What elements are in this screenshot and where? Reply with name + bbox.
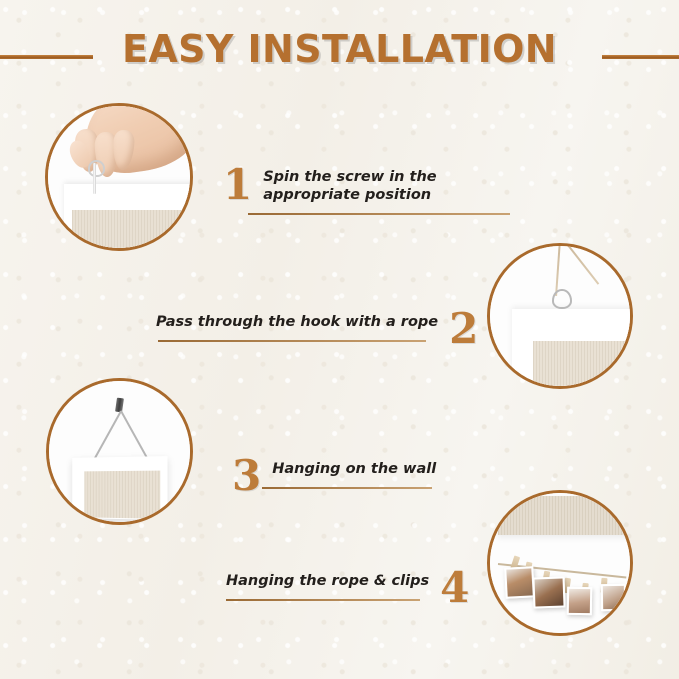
hanging-photo	[533, 576, 566, 608]
hanging-photo	[600, 584, 626, 611]
frame-mat	[72, 210, 193, 251]
frame-mat	[498, 496, 632, 535]
step-4: Hanging the rope & clips 4	[226, 569, 469, 607]
frame-mat	[533, 341, 633, 389]
scene-frame-on-nail	[49, 381, 190, 522]
step-1-underline	[248, 213, 510, 215]
picture-frame	[72, 456, 168, 520]
step-2-caption: Pass through the hook with a rope	[156, 310, 438, 331]
page-title: EASY INSTALLATION	[0, 27, 679, 71]
installation-infographic: EASY INSTALLATION	[0, 0, 679, 679]
step-4-caption: Hanging the rope & clips	[226, 569, 429, 590]
step-image-4	[487, 490, 633, 636]
step-3: 3 Hanging on the wall	[232, 457, 436, 495]
step-3-caption: Hanging on the wall	[272, 457, 436, 478]
step-4-underline	[226, 599, 420, 601]
step-3-number: 3	[232, 457, 261, 495]
header: EASY INSTALLATION	[0, 27, 679, 82]
step-2-number: 2	[449, 310, 478, 348]
step-2-underline	[158, 340, 426, 342]
step-1: 1 Spin the screw in the appropriate posi…	[223, 166, 525, 204]
step-image-2	[487, 243, 633, 389]
hanging-photo	[567, 587, 593, 615]
frame-mat	[84, 471, 160, 519]
scene-rope-hook	[490, 246, 630, 386]
screw-head-icon	[88, 160, 105, 177]
step-3-underline	[262, 487, 432, 489]
step-1-number: 1	[223, 166, 252, 204]
step-image-1	[45, 103, 193, 251]
scene-hand-screw	[48, 106, 190, 248]
hanging-photo	[505, 566, 536, 598]
step-image-3	[46, 378, 193, 525]
step-1-row: 1 Spin the screw in the appropriate posi…	[223, 166, 525, 204]
step-2: Pass through the hook with a rope 2	[156, 310, 478, 348]
screw-icon	[93, 163, 96, 194]
step-4-row: Hanging the rope & clips 4	[226, 569, 469, 607]
step-1-caption: Spin the screw in the appropriate positi…	[263, 166, 525, 204]
scene-photo-clips	[490, 493, 630, 633]
step-4-number: 4	[440, 569, 469, 607]
step-2-row: Pass through the hook with a rope 2	[156, 310, 478, 348]
hook-ring-icon	[552, 289, 571, 308]
header-rule-right	[602, 55, 679, 59]
step-3-row: 3 Hanging on the wall	[232, 457, 436, 495]
